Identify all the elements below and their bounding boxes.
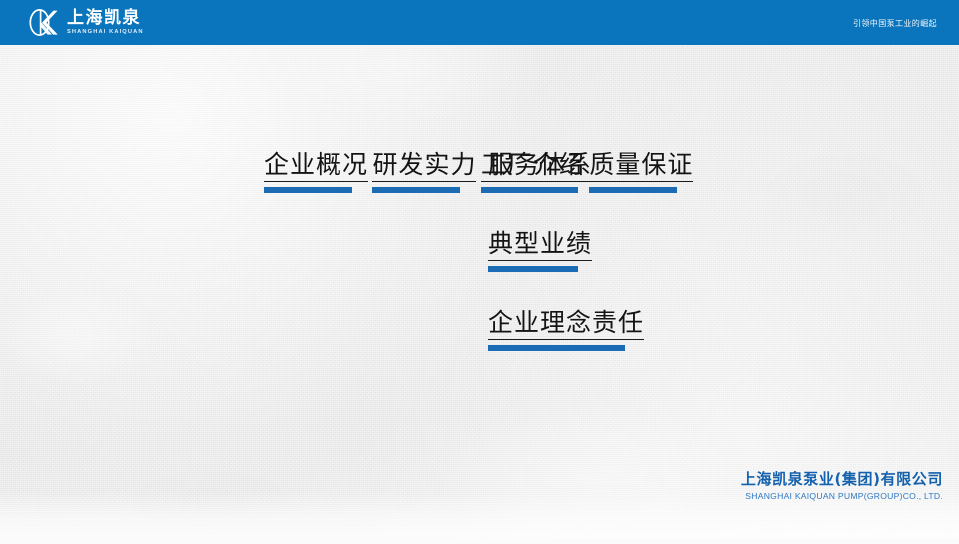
background-texture-blotches xyxy=(0,0,959,544)
footer-company-name-en: SHANGHAI KAIQUAN PUMP(GROUP)CO., LTD. xyxy=(741,490,943,502)
background-texture xyxy=(0,0,959,544)
menu-item-accent-bar xyxy=(488,345,625,351)
logo-brand-cn: 上海凯泉 xyxy=(67,10,142,27)
footer-company-branding: 上海凯泉泵业(集团)有限公司 SHANGHAI KAIQUAN PUMP(GRO… xyxy=(741,471,943,502)
menu-item-rd-strength[interactable]: 研发实力 xyxy=(372,150,476,193)
logo-wordmark: 上海凯泉 SHANGHAI KAIQUAN xyxy=(67,10,142,36)
menu-item-accent-bar xyxy=(488,266,578,272)
menu-item-label: 企业理念责任 xyxy=(488,308,644,340)
header-slogan: 引领中国泵工业的崛起 xyxy=(853,18,937,29)
menu-item-label: 研发实力 xyxy=(372,150,476,182)
header-bar: 上海凯泉 SHANGHAI KAIQUAN 引领中国泵工业的崛起 xyxy=(0,0,959,45)
menu-item-label: 企业概况 xyxy=(264,150,368,182)
menu-item-accent-bar xyxy=(264,187,352,193)
menu-item-corporate-philosophy[interactable]: 企业理念责任 xyxy=(488,308,644,351)
menu-item-service-system[interactable]: 服务体系 xyxy=(488,150,592,193)
bottom-white-strip xyxy=(0,538,959,544)
menu-item-company-overview[interactable]: 企业概况 xyxy=(264,150,368,193)
menu-item-accent-bar xyxy=(488,187,578,193)
menu-item-label: 服务体系 xyxy=(488,150,592,182)
menu-item-accent-bar xyxy=(372,187,460,193)
presentation-slide: 上海凯泉 SHANGHAI KAIQUAN 引领中国泵工业的崛起 企业概况 研发… xyxy=(0,0,959,544)
footer-company-name-cn: 上海凯泉泵业(集团)有限公司 xyxy=(741,471,943,488)
menu-item-label: 典型业绩 xyxy=(488,229,592,261)
menu-right-column: 服务体系 典型业绩 企业理念责任 xyxy=(488,150,694,351)
kaiquan-k-emblem-icon xyxy=(26,7,60,38)
logo-brand-en: SHANGHAI KAIQUAN xyxy=(67,30,144,36)
menu-item-typical-performance[interactable]: 典型业绩 xyxy=(488,229,592,272)
company-logo[interactable]: 上海凯泉 SHANGHAI KAIQUAN xyxy=(26,7,142,38)
